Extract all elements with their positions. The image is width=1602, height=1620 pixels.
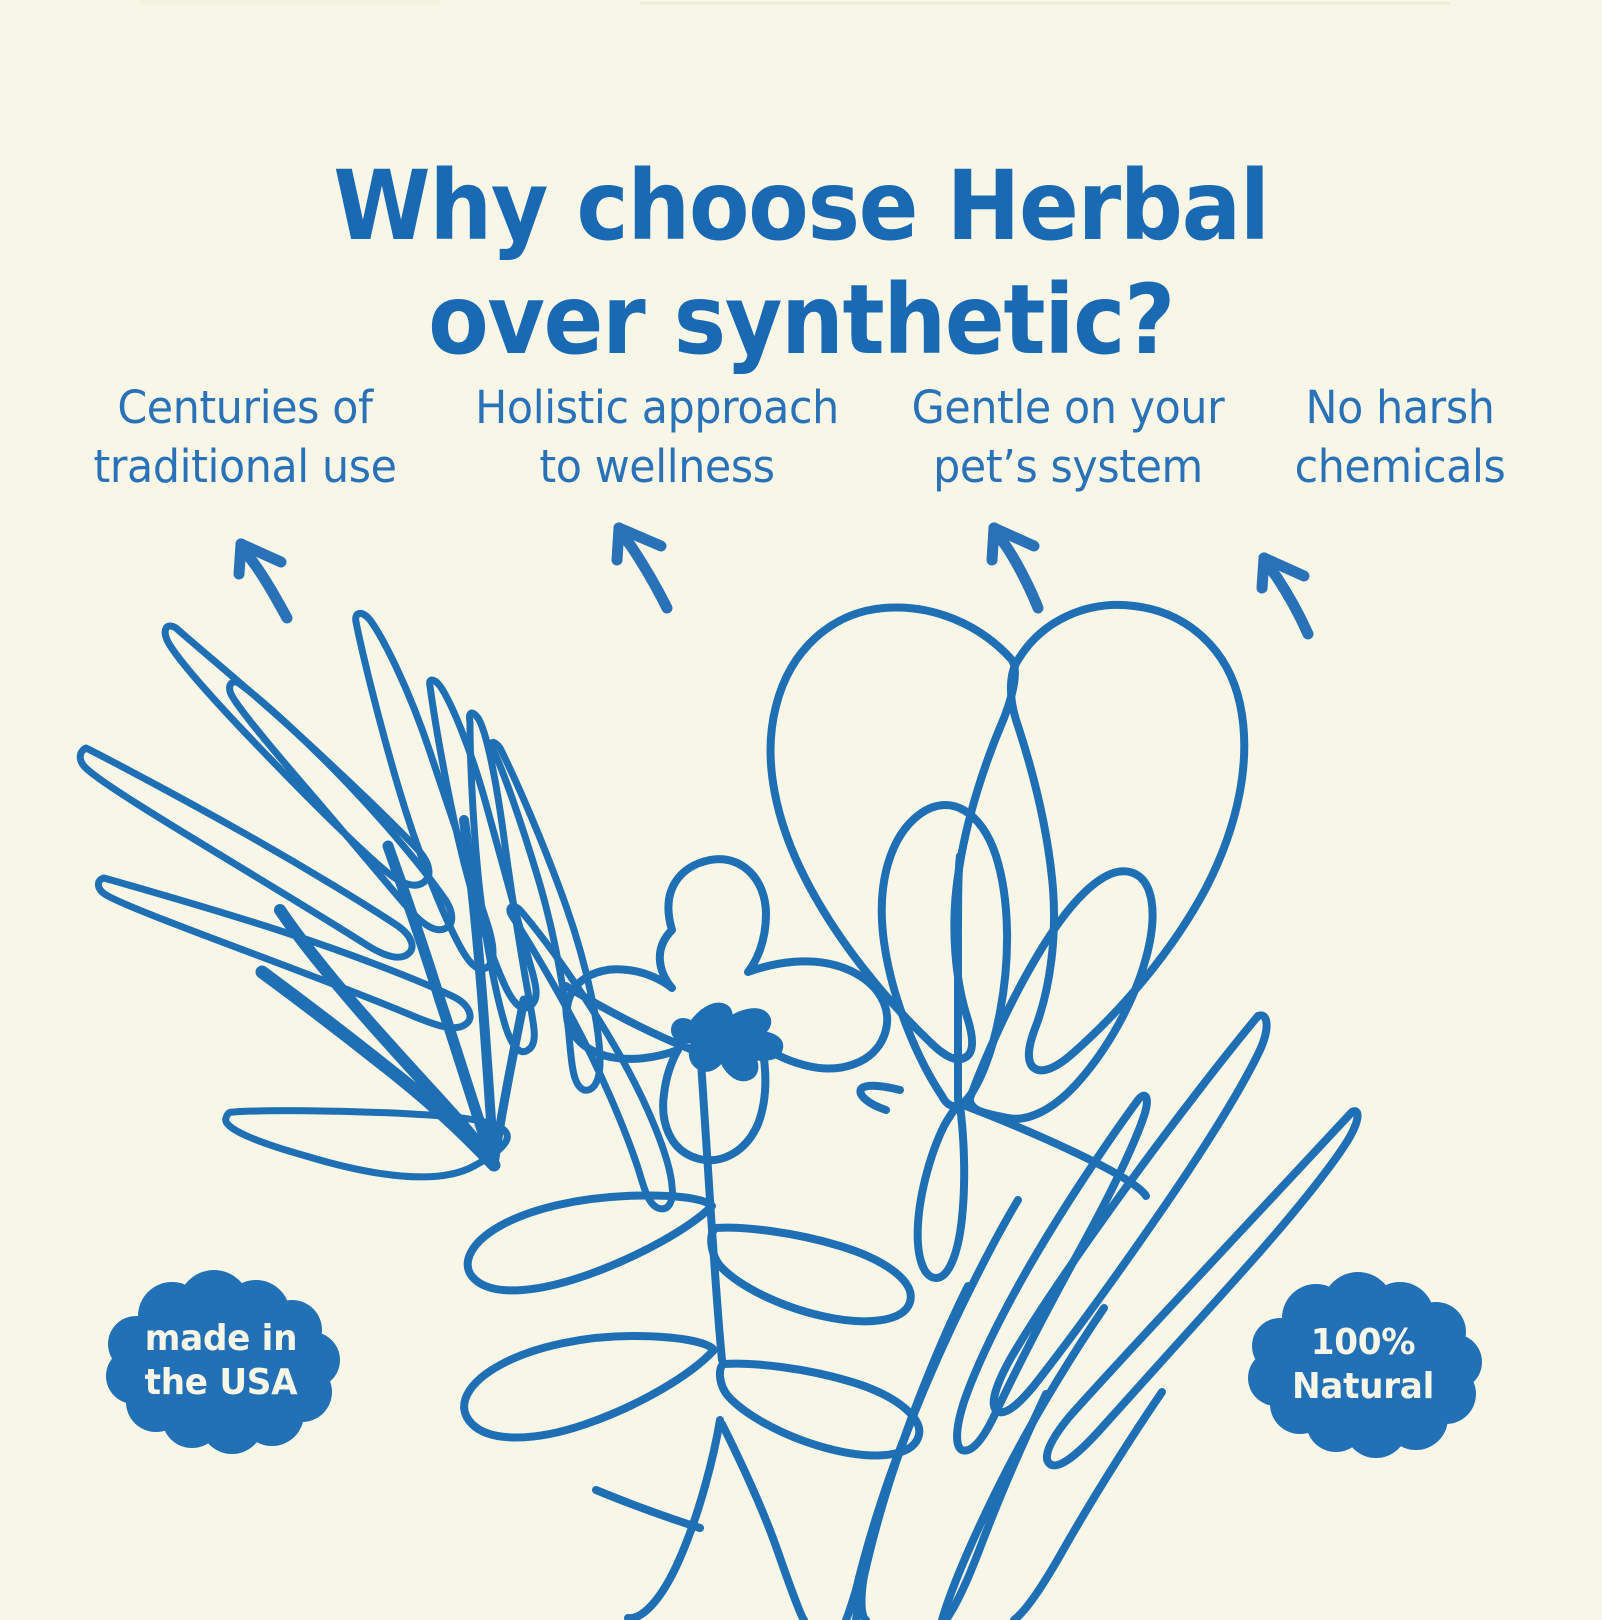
feature-label: Gentle on your pet’s system — [912, 378, 1226, 497]
feature-label: Centuries of traditional use — [88, 378, 402, 497]
poster-canvas: Why choose Herbal over synthetic? Centur… — [0, 0, 1602, 1620]
page-title: Why choose Herbal over synthetic? — [64, 150, 1538, 377]
feature-item-gentle: Gentle on your pet’s system — [903, 378, 1233, 497]
feature-item-no-harsh: No harsh chemicals — [1280, 378, 1520, 497]
arrow-up-left-icon — [980, 512, 1070, 612]
title-line-2: over synthetic? — [64, 264, 1538, 377]
top-edge-artifact — [640, 2, 1450, 5]
arrow-up-left-icon — [225, 522, 315, 622]
badge-label: 100% Natural — [1244, 1272, 1482, 1458]
feature-list: Centuries of traditional use Holistic ap… — [80, 378, 1520, 497]
top-edge-artifact-secondary — [140, 0, 440, 5]
arrow-up-left-icon — [1252, 542, 1342, 642]
rosemary-sprig — [80, 613, 672, 1208]
badge-label: made in the USA — [102, 1268, 340, 1454]
title-line-1: Why choose Herbal — [64, 150, 1538, 263]
badge-made-in-usa: made in the USA — [96, 1268, 346, 1454]
five-petal-flower — [566, 859, 887, 1360]
heart-shaped-leaf — [771, 605, 1245, 1278]
feature-label: Holistic approach to wellness — [467, 378, 847, 497]
leafy-stem — [464, 1195, 919, 1620]
feature-label: No harsh chemicals — [1286, 378, 1514, 497]
feature-item-holistic: Holistic approach to wellness — [457, 378, 857, 497]
badge-100-natural: 100% Natural — [1238, 1272, 1488, 1458]
feature-item-centuries: Centuries of traditional use — [80, 378, 410, 497]
arrow-up-left-icon — [605, 512, 695, 612]
